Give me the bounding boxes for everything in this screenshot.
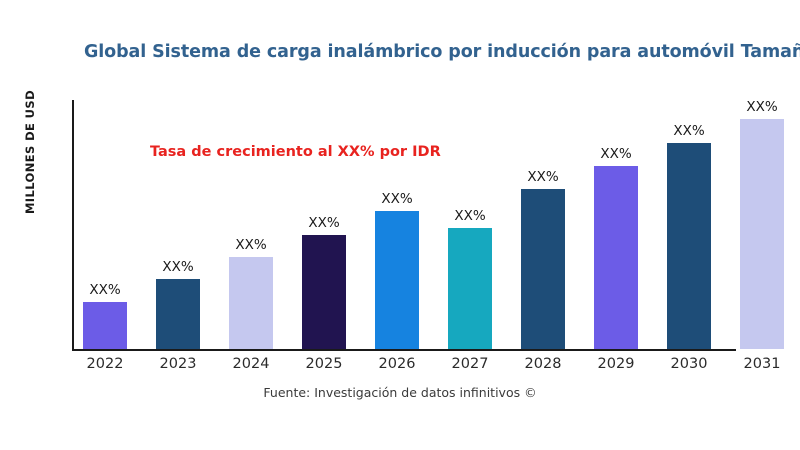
growth-rate-annotation: Tasa de crecimiento al XX% por IDR — [150, 144, 441, 160]
x-tick-2026: 2026 — [367, 356, 427, 372]
x-axis-tick-labels: 2022202320242025202620272028202920302031 — [72, 356, 800, 378]
bar-2027[interactable] — [448, 228, 492, 349]
bar-value-label-2029: XX% — [600, 146, 631, 162]
bar-2028[interactable] — [521, 189, 565, 349]
chart-title: Global Sistema de carga inalámbrico por … — [84, 42, 800, 62]
chart-container: Global Sistema de carga inalámbrico por … — [0, 0, 800, 450]
bar-group-2024[interactable]: XX% — [229, 98, 273, 349]
bar-2030[interactable] — [667, 143, 711, 349]
bar-value-label-2024: XX% — [235, 237, 266, 253]
bar-value-label-2030: XX% — [673, 123, 704, 139]
bar-value-label-2026: XX% — [381, 191, 412, 207]
bar-group-2031[interactable]: XX% — [740, 98, 784, 349]
bar-2029[interactable] — [594, 166, 638, 349]
bar-2022[interactable] — [83, 302, 127, 349]
x-tick-2031: 2031 — [732, 356, 792, 372]
x-tick-2028: 2028 — [513, 356, 573, 372]
bar-2026[interactable] — [375, 211, 419, 349]
x-tick-2023: 2023 — [148, 356, 208, 372]
x-tick-2029: 2029 — [586, 356, 646, 372]
bar-2031[interactable] — [740, 119, 784, 349]
bar-2023[interactable] — [156, 279, 200, 349]
bar-group-2027[interactable]: XX% — [448, 98, 492, 349]
bar-group-2028[interactable]: XX% — [521, 98, 565, 349]
bar-group-2026[interactable]: XX% — [375, 98, 419, 349]
bar-value-label-2027: XX% — [454, 208, 485, 224]
x-tick-2027: 2027 — [440, 356, 500, 372]
bar-value-label-2025: XX% — [308, 215, 339, 231]
bar-group-2022[interactable]: XX% — [83, 98, 127, 349]
bar-value-label-2022: XX% — [89, 282, 120, 298]
x-tick-2024: 2024 — [221, 356, 281, 372]
bar-value-label-2023: XX% — [162, 259, 193, 275]
bar-group-2025[interactable]: XX% — [302, 98, 346, 349]
bar-group-2029[interactable]: XX% — [594, 98, 638, 349]
bar-value-label-2031: XX% — [746, 99, 777, 115]
x-tick-2025: 2025 — [294, 356, 354, 372]
bar-2025[interactable] — [302, 235, 346, 349]
source-caption: Fuente: Investigación de datos infinitiv… — [0, 385, 800, 400]
y-axis-label: MILLONES DE USD — [23, 52, 37, 252]
bar-group-2030[interactable]: XX% — [667, 98, 711, 349]
bar-value-label-2028: XX% — [527, 169, 558, 185]
x-tick-2022: 2022 — [75, 356, 135, 372]
bar-series: XX%XX%XX%XX%XX%XX%XX%XX%XX%XX% — [72, 100, 800, 351]
bar-2024[interactable] — [229, 257, 273, 349]
bar-group-2023[interactable]: XX% — [156, 98, 200, 349]
x-tick-2030: 2030 — [659, 356, 719, 372]
